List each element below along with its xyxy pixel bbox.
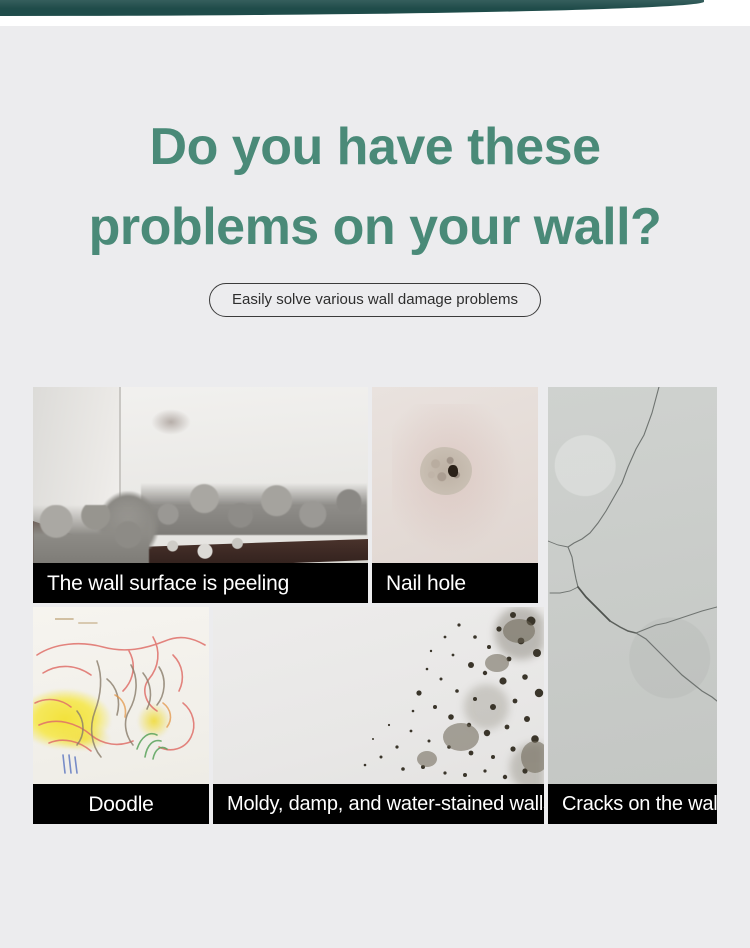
problem-gallery-grid: The wall surface is peeling Nail hole bbox=[33, 387, 717, 824]
subtitle-pill: Easily solve various wall damage problem… bbox=[209, 283, 541, 317]
photo-cracks-on-wall bbox=[548, 387, 717, 824]
gallery-item-peeling[interactable]: The wall surface is peeling bbox=[33, 387, 368, 603]
gallery-item-doodle[interactable]: Doodle bbox=[33, 607, 209, 824]
gallery-caption-doodle: Doodle bbox=[33, 784, 209, 824]
top-decorative-banner bbox=[0, 0, 750, 26]
gallery-item-moldy[interactable]: Moldy, damp, and water-stained walls bbox=[213, 607, 544, 824]
banner-teal-shape bbox=[0, 0, 704, 16]
gallery-item-cracks[interactable]: Cracks on the wall bbox=[548, 387, 717, 824]
gallery-item-nail-hole[interactable]: Nail hole bbox=[372, 387, 538, 603]
gallery-caption-nail-hole: Nail hole bbox=[372, 563, 538, 603]
gallery-caption-cracks: Cracks on the wall bbox=[548, 784, 717, 824]
gallery-caption-moldy: Moldy, damp, and water-stained walls bbox=[213, 784, 544, 824]
page-title: Do you have these problems on your wall? bbox=[0, 108, 750, 267]
gallery-caption-peeling: The wall surface is peeling bbox=[33, 563, 368, 603]
page-title-line-1: Do you have these bbox=[0, 108, 750, 188]
crack-lines bbox=[548, 387, 717, 824]
page-title-line-2: problems on your wall? bbox=[0, 188, 750, 268]
subtitle-row: Easily solve various wall damage problem… bbox=[0, 283, 750, 317]
banner-underline bbox=[0, 16, 750, 26]
